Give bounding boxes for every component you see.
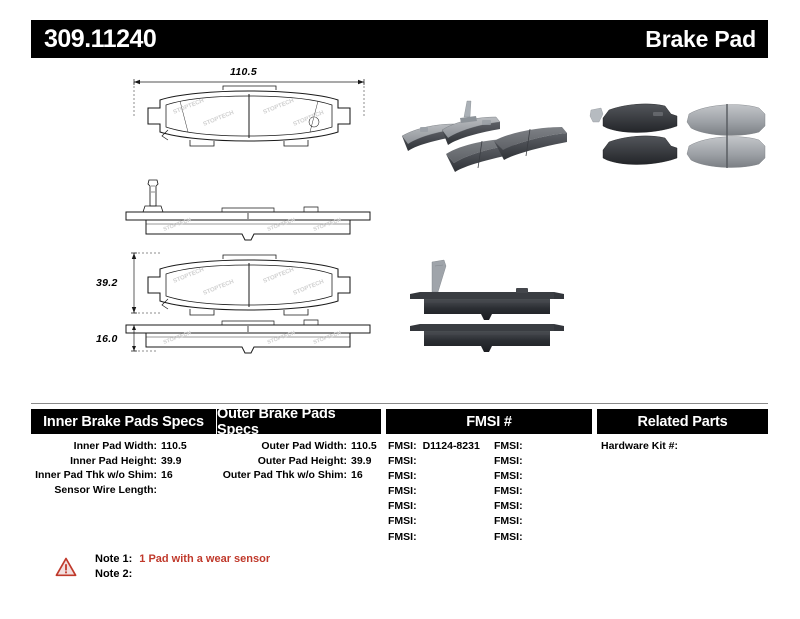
spec-row: Outer Pad Height: 39.9 <box>217 454 381 469</box>
svg-text:STOPTECH: STOPTECH <box>263 98 295 116</box>
note-2-text <box>132 568 139 580</box>
fmsi-value <box>523 514 529 529</box>
spec-label: Inner Pad Thk w/o Shim: <box>31 468 157 483</box>
svg-text:STOPTECH: STOPTECH <box>203 110 235 128</box>
fmsi-label: FMSI: <box>388 499 417 514</box>
svg-text:STOPTECH: STOPTECH <box>173 98 205 116</box>
pad-pair-side-photo <box>404 252 570 352</box>
spec-label: Inner Pad Height: <box>31 454 157 469</box>
width-dimension-label: 110.5 <box>230 66 257 78</box>
column-header-outer: Outer Brake Pads Specs <box>217 409 381 434</box>
related-part-row: Hardware Kit #: <box>601 439 768 454</box>
note-2: Note 2: <box>95 568 139 580</box>
fmsi-row: FMSI: <box>388 530 494 545</box>
fmsi-row: FMSI: <box>494 439 592 454</box>
spec-row: Sensor Wire Length: <box>31 483 216 498</box>
media-area: STOPTECH STOPTECH STOPTECH STOPTECH 110.… <box>0 62 800 390</box>
spec-label: Outer Pad Width: <box>217 439 347 454</box>
spec-value: 39.9 <box>157 454 181 469</box>
column-body-outer: Outer Pad Width: 110.5 Outer Pad Height:… <box>217 439 381 483</box>
fmsi-value <box>417 469 423 484</box>
rear-pad-set-photo-svg <box>398 100 573 182</box>
height-dimension-label: 39.2 <box>96 277 118 289</box>
fmsi-value: D1124-8231 <box>417 439 480 454</box>
svg-text:STOPTECH: STOPTECH <box>263 267 295 285</box>
spec-label: Inner Pad Width: <box>31 439 157 454</box>
spec-value: 110.5 <box>347 439 377 454</box>
front-pad-set-photo <box>585 100 770 182</box>
pad-thickness-view-svg: STOPTECH STOPTECH STOPTECH <box>118 317 378 367</box>
fmsi-label: FMSI: <box>494 484 523 499</box>
fmsi-row: FMSI: <box>388 499 494 514</box>
column-header-related-parts-label: Related Parts <box>637 414 727 430</box>
fmsi-value <box>417 454 423 469</box>
fmsi-row: FMSI: <box>494 499 592 514</box>
spec-value: 16 <box>157 468 173 483</box>
column-header-fmsi-label: FMSI # <box>466 414 512 430</box>
fmsi-column-right: FMSI: FMSI: FMSI: FMSI: FMSI: <box>494 439 592 545</box>
fmsi-label: FMSI: <box>494 469 523 484</box>
fmsi-value <box>523 454 529 469</box>
fmsi-label: FMSI: <box>388 530 417 545</box>
product-type-label: Brake Pad <box>645 28 756 51</box>
fmsi-row: FMSI: <box>494 514 592 529</box>
column-header-inner: Inner Brake Pads Specs <box>31 409 216 434</box>
spec-row: Inner Pad Height: 39.9 <box>31 454 216 469</box>
fmsi-value <box>523 499 529 514</box>
fmsi-label: FMSI: <box>494 530 523 545</box>
spec-value: 39.9 <box>347 454 371 469</box>
fmsi-value <box>417 499 423 514</box>
hardware-kit-label: Hardware Kit #: <box>601 440 678 452</box>
fmsi-column-left: FMSI: D1124-8231 FMSI: FMSI: FMSI: FMSI: <box>388 439 494 545</box>
fmsi-row: FMSI: <box>388 469 494 484</box>
fmsi-row: FMSI: D1124-8231 <box>388 439 494 454</box>
fmsi-row: FMSI: <box>494 469 592 484</box>
fmsi-label: FMSI: <box>388 469 417 484</box>
title-bar: 309.11240 Brake Pad <box>31 20 768 58</box>
spec-row: Outer Pad Width: 110.5 <box>217 439 381 454</box>
spec-value <box>157 483 161 498</box>
spec-value: 16 <box>347 468 363 483</box>
note-1: Note 1: 1 Pad with a wear sensor <box>95 553 270 565</box>
svg-text:STOPTECH: STOPTECH <box>173 267 205 285</box>
rear-pad-top-view-with-height-dimension: STOPTECH STOPTECH STOPTECH STOPTECH 39.2 <box>118 247 378 327</box>
fmsi-row: FMSI: <box>494 530 592 545</box>
note-1-text: 1 Pad with a wear sensor <box>132 553 270 565</box>
spec-value: 110.5 <box>157 439 187 454</box>
fmsi-label: FMSI: <box>388 454 417 469</box>
specifications-table: Inner Brake Pads Specs Outer Brake Pads … <box>31 403 768 553</box>
fmsi-label: FMSI: <box>388 439 417 454</box>
fmsi-row: FMSI: <box>494 484 592 499</box>
column-body-inner: Inner Pad Width: 110.5 Inner Pad Height:… <box>31 439 216 497</box>
rear-pad-edge-view-with-sensor: STOPTECH STOPTECH STOPTECH <box>118 172 378 252</box>
table-top-rule <box>31 403 768 404</box>
column-header-related-parts: Related Parts <box>597 409 768 434</box>
fmsi-row: FMSI: <box>494 454 592 469</box>
svg-text:STOPTECH: STOPTECH <box>293 279 325 297</box>
fmsi-row: FMSI: <box>388 454 494 469</box>
spec-label: Outer Pad Thk w/o Shim: <box>217 468 347 483</box>
fmsi-value <box>523 439 529 454</box>
fmsi-row: FMSI: <box>388 484 494 499</box>
fmsi-row: FMSI: <box>388 514 494 529</box>
spec-row: Outer Pad Thk w/o Shim: 16 <box>217 468 381 483</box>
svg-text:STOPTECH: STOPTECH <box>293 110 325 128</box>
rear-pad-top-view-with-width-dimension: STOPTECH STOPTECH STOPTECH STOPTECH 110.… <box>118 70 378 180</box>
svg-text:STOPTECH: STOPTECH <box>203 279 235 297</box>
column-body-related-parts: Hardware Kit #: <box>601 439 768 454</box>
spec-row: Inner Pad Width: 110.5 <box>31 439 216 454</box>
column-header-outer-label: Outer Brake Pads Specs <box>217 406 381 438</box>
column-body-fmsi: FMSI: D1124-8231 FMSI: FMSI: FMSI: FMSI: <box>388 439 592 545</box>
rear-pad-set-photo <box>398 100 573 182</box>
warning-triangle-icon <box>55 557 77 577</box>
fmsi-label: FMSI: <box>494 499 523 514</box>
thickness-dimension-label: 16.0 <box>96 333 118 345</box>
fmsi-label: FMSI: <box>494 514 523 529</box>
column-header-fmsi: FMSI # <box>386 409 592 434</box>
spec-label: Outer Pad Height: <box>217 454 347 469</box>
spec-row: Inner Pad Thk w/o Shim: 16 <box>31 468 216 483</box>
pad-pair-side-photo-svg <box>404 252 570 352</box>
note-2-label: Note 2: <box>95 568 132 580</box>
fmsi-label: FMSI: <box>494 439 523 454</box>
fmsi-label: FMSI: <box>388 484 417 499</box>
note-1-label: Note 1: <box>95 553 132 565</box>
fmsi-value <box>417 484 423 499</box>
pad-edge-view-svg: STOPTECH STOPTECH STOPTECH <box>118 172 378 252</box>
fmsi-value <box>417 514 423 529</box>
spec-label: Sensor Wire Length: <box>31 483 157 498</box>
column-header-inner-label: Inner Brake Pads Specs <box>43 414 204 430</box>
pad-height-view-svg: STOPTECH STOPTECH STOPTECH STOPTECH <box>118 247 378 327</box>
fmsi-label: FMSI: <box>388 514 417 529</box>
fmsi-value <box>417 530 423 545</box>
fmsi-label: FMSI: <box>494 454 523 469</box>
part-number: 309.11240 <box>44 27 156 52</box>
front-pad-set-photo-svg <box>585 100 770 182</box>
fmsi-value <box>523 469 529 484</box>
fmsi-value <box>523 484 529 499</box>
fmsi-value <box>523 530 529 545</box>
fmsi-grid: FMSI: D1124-8231 FMSI: FMSI: FMSI: FMSI: <box>388 439 592 545</box>
rear-pad-edge-view-with-thickness-dimension: STOPTECH STOPTECH STOPTECH 16.0 <box>118 317 378 367</box>
pad-top-view-svg: STOPTECH STOPTECH STOPTECH STOPTECH <box>118 70 378 180</box>
